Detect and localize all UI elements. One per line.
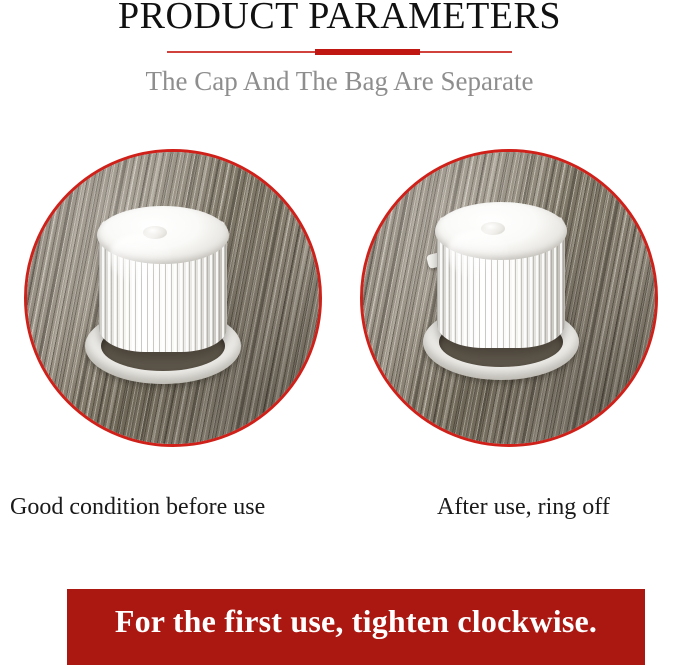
- header: PRODUCT PARAMETERS The Cap And The Bag A…: [0, 0, 679, 110]
- divider-thick-segment: [315, 49, 420, 55]
- photo-image-before-use: [27, 152, 319, 444]
- page-subtitle: The Cap And The Bag Are Separate: [0, 66, 679, 97]
- title-divider: [167, 49, 512, 56]
- plastic-cap-intact: [83, 204, 243, 394]
- caption-row: Good condition before use After use, rin…: [0, 494, 679, 534]
- caption-before-use: Good condition before use: [10, 494, 265, 521]
- instruction-banner-text: For the first use, tighten clockwise.: [67, 603, 645, 640]
- photo-circle-after-use: [360, 149, 658, 447]
- instruction-banner: For the first use, tighten clockwise.: [67, 589, 645, 665]
- photo-row: [0, 149, 679, 449]
- photo-circle-before-use: [24, 149, 322, 447]
- caption-after-use: After use, ring off: [437, 494, 610, 521]
- plastic-cap-ring-off: [421, 200, 581, 390]
- photo-image-after-use: [363, 152, 655, 444]
- page-title: PRODUCT PARAMETERS: [0, 0, 679, 38]
